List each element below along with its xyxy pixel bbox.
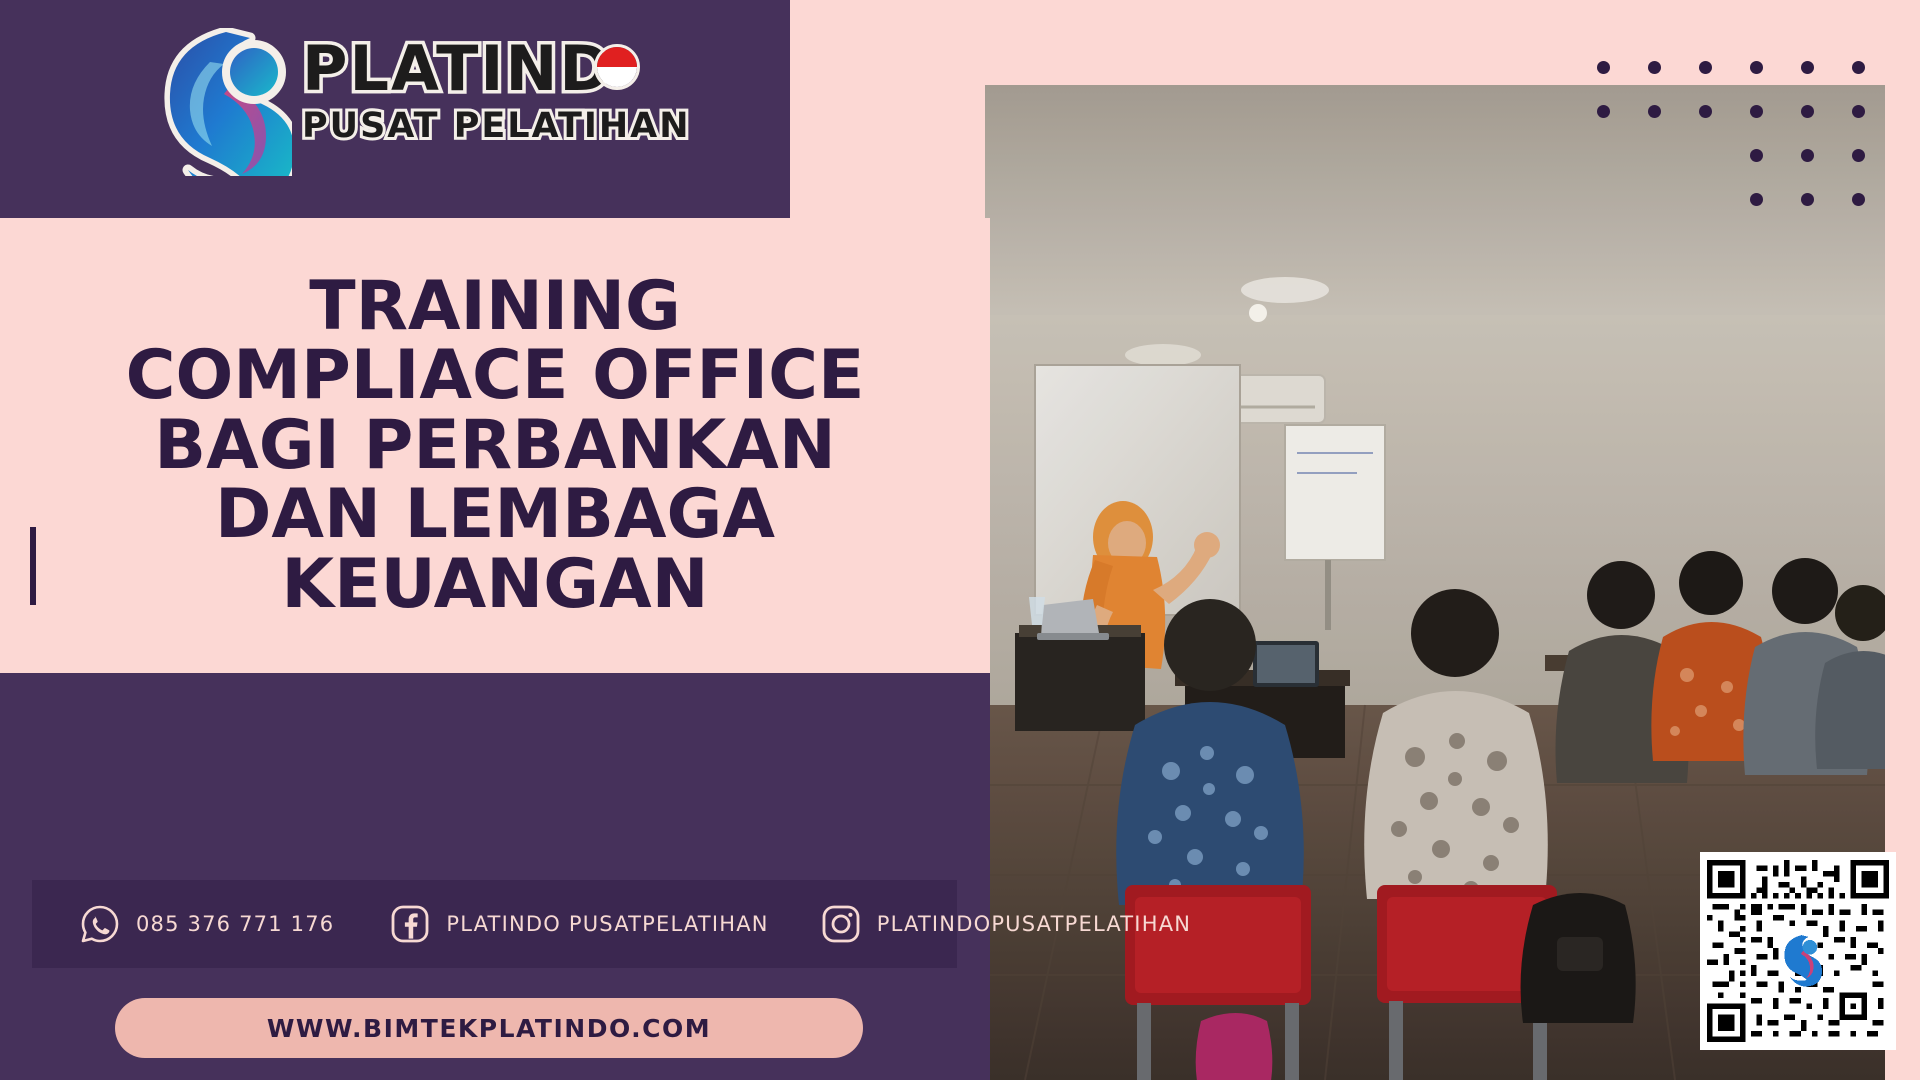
platindo-swoosh-logo-icon bbox=[162, 28, 292, 176]
platindo-logo: PLATIND PUSAT PELATIHAN bbox=[162, 22, 662, 182]
contact-facebook[interactable]: PLATINDO PUSATPELATIHAN bbox=[390, 904, 768, 944]
dot bbox=[1699, 61, 1712, 74]
title-accent-bar bbox=[30, 527, 36, 605]
title-panel: TRAINING COMPLIACE OFFICE BAGI PERBANKAN… bbox=[0, 218, 990, 673]
dot bbox=[1699, 105, 1712, 118]
dot bbox=[1801, 193, 1814, 206]
indonesia-flag-circle-icon bbox=[594, 44, 640, 90]
dot bbox=[1801, 61, 1814, 74]
instagram-icon bbox=[821, 904, 861, 944]
whatsapp-number: 085 376 771 176 bbox=[136, 912, 334, 936]
whatsapp-icon bbox=[80, 904, 120, 944]
dot bbox=[1648, 61, 1661, 74]
dot bbox=[1801, 149, 1814, 162]
website-pill[interactable]: WWW.BIMTEKPLATINDO.COM bbox=[115, 998, 863, 1058]
dot bbox=[1852, 61, 1865, 74]
instagram-handle: PLATINDOPUSATPELATIHAN bbox=[877, 912, 1191, 936]
poster-canvas: PLATIND PUSAT PELATIHAN TRAINING COMPLIA… bbox=[0, 0, 1920, 1080]
dot bbox=[1852, 105, 1865, 118]
website-url: WWW.BIMTEKPLATINDO.COM bbox=[267, 1014, 711, 1043]
contact-instagram[interactable]: PLATINDOPUSATPELATIHAN bbox=[821, 904, 1191, 944]
dot bbox=[1597, 105, 1610, 118]
dot bbox=[1750, 193, 1763, 206]
contact-strip: 085 376 771 176 PLATINDO PUSATPELATIHAN … bbox=[32, 880, 957, 968]
dot bbox=[1750, 61, 1763, 74]
dot bbox=[1597, 61, 1610, 74]
dot bbox=[1852, 149, 1865, 162]
facebook-handle: PLATINDO PUSATPELATIHAN bbox=[446, 912, 768, 936]
title-line-4: DAN LEMBAGA bbox=[40, 480, 950, 549]
title-line-5: KEUANGAN bbox=[40, 550, 950, 619]
dot bbox=[1750, 105, 1763, 118]
dot bbox=[1801, 105, 1814, 118]
wordmark-subtitle: PUSAT PELATIHAN bbox=[302, 109, 662, 144]
dot bbox=[1750, 149, 1763, 162]
decorative-dot-grid bbox=[1597, 45, 1865, 221]
title-line-1: TRAINING bbox=[40, 272, 950, 341]
contact-whatsapp[interactable]: 085 376 771 176 bbox=[80, 904, 334, 944]
dot bbox=[1648, 105, 1661, 118]
title-line-2: COMPLIACE OFFICE bbox=[40, 341, 950, 410]
title-line-3: BAGI PERBANKAN bbox=[40, 411, 950, 480]
facebook-icon bbox=[390, 904, 430, 944]
qr-code[interactable] bbox=[1700, 852, 1896, 1050]
dot bbox=[1852, 193, 1865, 206]
